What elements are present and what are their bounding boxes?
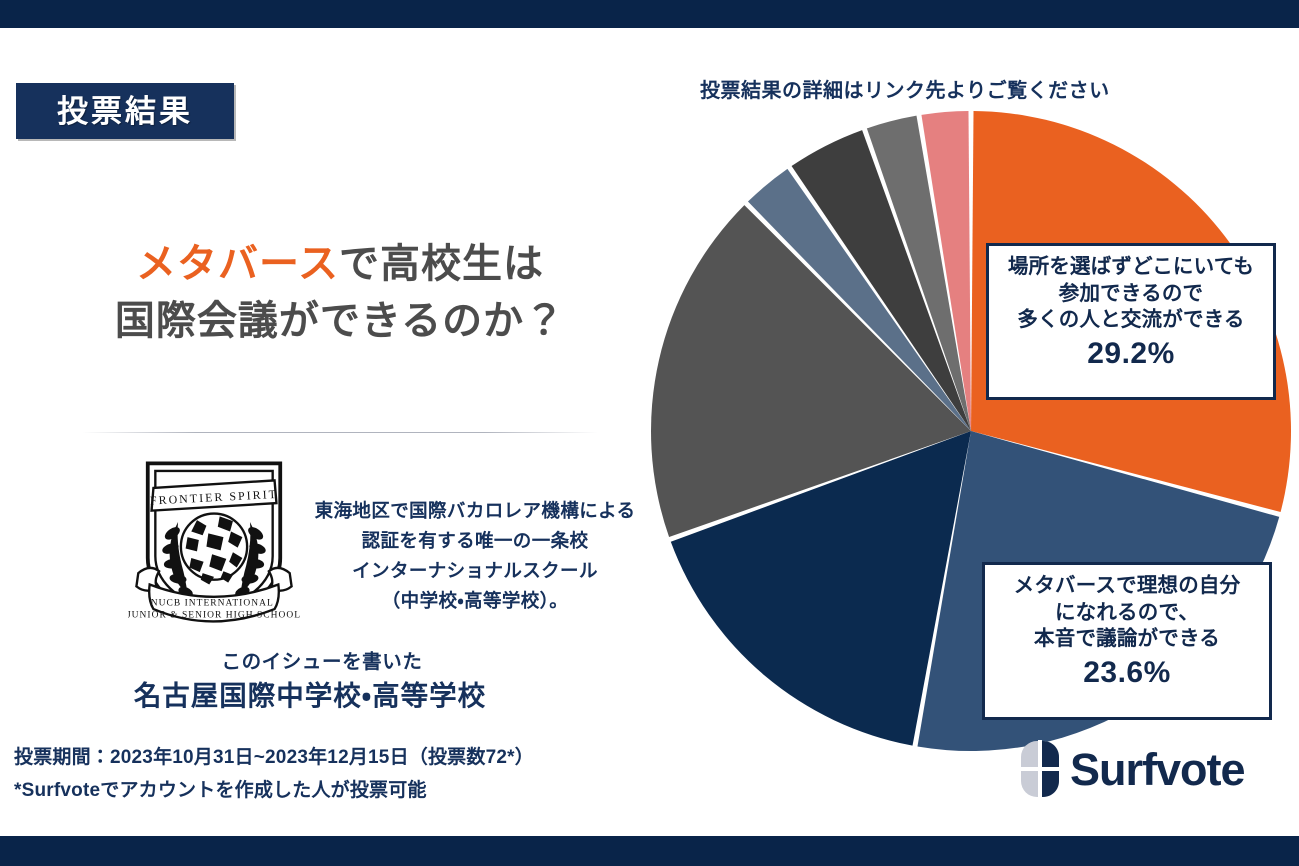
section-divider (82, 432, 598, 433)
school-description-line: （中学校・高等学校）。 (300, 586, 650, 616)
callout-line: になれるので、 (995, 600, 1259, 627)
issue-author-label: このイシューを書いた (22, 645, 622, 674)
callout-percent: 29.2% (999, 336, 1263, 373)
school-description-line: 認証を有する唯一の一条校 (300, 526, 650, 556)
school-description: 東海地区で国際バカロレア機構による 認証を有する唯一の一条校 インターナショナル… (300, 496, 650, 616)
callout-line: メタバースで理想の自分 (995, 573, 1259, 600)
school-description-line: 東海地区で国際バカロレア機構による (300, 496, 650, 526)
bottom-navy-bar (0, 836, 1299, 866)
slide-canvas: 投票結果 メタバースで高校生は 国際会議ができるのか？ FRONTIER SPI… (0, 0, 1299, 866)
headline-rest: で高校生は (339, 242, 544, 286)
callout-line: 多くの人と交流ができる (999, 307, 1263, 334)
school-description-line: インターナショナルスクール (300, 556, 650, 586)
school-crest-icon: FRONTIER SPIRIT (128, 452, 300, 628)
school-name: 名古屋国際中学校・高等学校 (10, 673, 610, 713)
callout-line: 本音で議論ができる (995, 626, 1259, 653)
page-title: メタバースで高校生は 国際会議ができるのか？ (60, 236, 620, 350)
result-badge: 投票結果 (16, 83, 234, 139)
headline-line2: 国際会議ができるのか？ (115, 299, 565, 343)
callout-box-2: メタバースで理想の自分 になれるので、 本音で議論ができる 23.6% (982, 562, 1272, 720)
chart-caption: 投票結果の詳細はリンク先よりご覧ください (700, 74, 1299, 103)
surfvote-logo-icon (1020, 740, 1060, 798)
headline-accent: メタバース (136, 242, 339, 286)
result-badge-label: 投票結果 (57, 96, 193, 127)
callout-percent: 23.6% (995, 655, 1259, 692)
top-navy-bar (0, 0, 1299, 28)
surfvote-logo: Surfvote (1020, 740, 1245, 798)
callout-line: 参加できるので (999, 281, 1263, 308)
callout-line: 場所を選ばずどこにいても (999, 254, 1263, 281)
voting-period: 投票期間：2023年10月31日~2023年12月15日（投票数72*） (14, 742, 534, 769)
voting-note: *Surfvoteでアカウントを作成した人が投票可能 (14, 775, 427, 802)
callout-box-1: 場所を選ばずどこにいても 参加できるので 多くの人と交流ができる 29.2% (986, 243, 1276, 400)
surfvote-wordmark: Surfvote (1070, 747, 1245, 792)
